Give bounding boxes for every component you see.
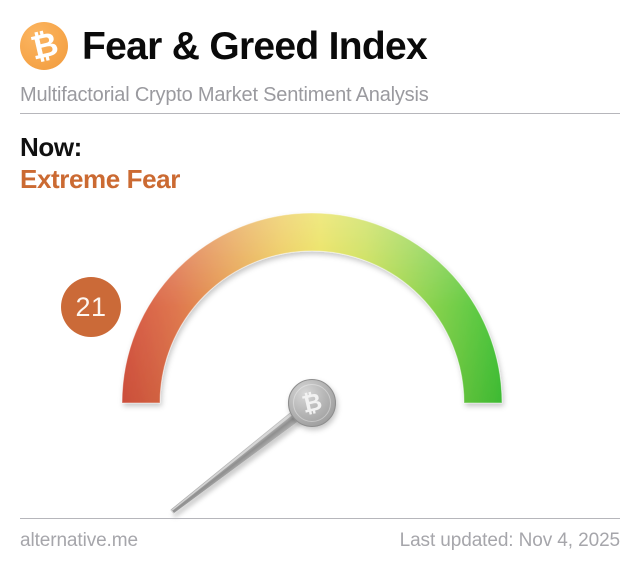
footer-divider <box>20 518 620 519</box>
footer-last-updated-label: Last updated: Nov 4, 2025 <box>400 530 620 552</box>
page-subtitle: Multifactorial Crypto Market Sentiment A… <box>20 84 620 107</box>
gauge-needle <box>168 398 316 517</box>
page-title: Fear & Greed Index <box>82 27 427 66</box>
header: ₿ Fear & Greed Index Multifactorial Cryp… <box>20 18 620 108</box>
status-now-label: Now: <box>20 133 180 162</box>
header-divider <box>20 113 620 114</box>
gauge-hub: ₿ <box>289 380 336 427</box>
title-row: ₿ Fear & Greed Index <box>20 18 620 74</box>
status-block: Now: Extreme Fear <box>20 133 180 194</box>
gauge-value-text: 21 <box>75 294 106 321</box>
footer-source-label: alternative.me <box>20 530 138 552</box>
status-value-label: Extreme Fear <box>20 165 180 194</box>
gauge-value-badge: 21 <box>61 277 121 337</box>
gauge-track <box>122 213 502 403</box>
bitcoin-glyph: ₿ <box>27 26 61 64</box>
hub-bitcoin-glyph: ₿ <box>299 387 324 419</box>
footer: alternative.me Last updated: Nov 4, 2025 <box>20 530 620 552</box>
bitcoin-icon: ₿ <box>20 22 68 70</box>
fear-greed-index-page: ₿ Fear & Greed Index Multifactorial Cryp… <box>0 0 640 575</box>
